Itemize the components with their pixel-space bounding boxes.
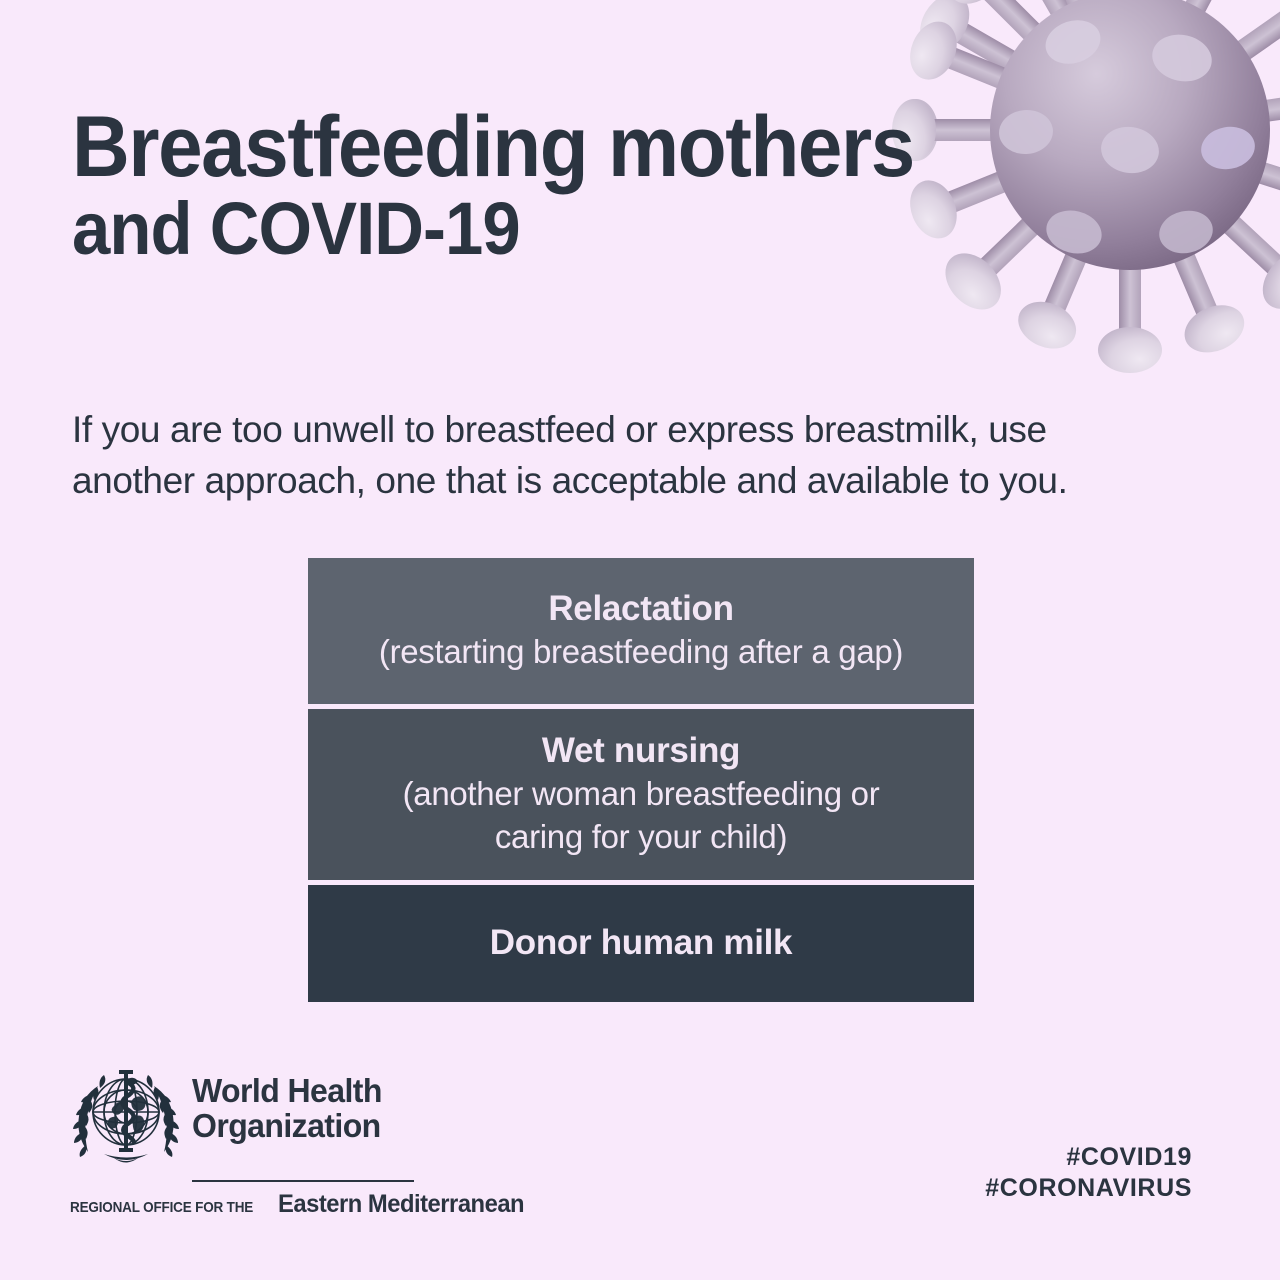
who-logo-divider [192, 1180, 414, 1182]
who-wordmark: World Health Organization [192, 1062, 388, 1143]
who-logo-main: World Health Organization [70, 1062, 430, 1174]
option-title-wet-nursing: Wet nursing [334, 730, 948, 773]
body-line-2: another approach, one that is acceptable… [72, 455, 1242, 506]
option-subtitle-line-1: (restarting breastfeeding after a gap) [334, 631, 948, 674]
option-card-relactation: Relactation (restarting breastfeeding af… [308, 558, 974, 704]
who-word-line-1: World Health [192, 1074, 382, 1109]
option-title-relactation: Relactation [334, 588, 948, 631]
headline-line-1: Breastfeeding mothers [72, 108, 983, 187]
option-subtitle-line-2: caring for your child) [334, 816, 948, 859]
hashtag-coronavirus: #CORONAVIRUS [985, 1173, 1192, 1204]
who-region-name: Eastern Mediterranean [278, 1190, 524, 1219]
who-logo: World Health Organization REGIONAL OFFIC… [70, 1062, 430, 1219]
poster-headline: Breastfeeding mothers and COVID-19 [72, 108, 1052, 267]
option-card-donor-human-milk: Donor human milk [308, 885, 974, 1002]
option-title-donor-human-milk: Donor human milk [334, 922, 948, 965]
hashtag-covid19: #COVID19 [985, 1142, 1192, 1173]
who-region-prefix: REGIONAL OFFICE FOR THE [70, 1199, 253, 1216]
who-region-line: REGIONAL OFFICE FOR THE Eastern Mediterr… [70, 1190, 430, 1219]
hashtag-block: #COVID19 #CORONAVIRUS [985, 1142, 1192, 1203]
headline-line-2: and COVID-19 [72, 191, 983, 266]
alternative-options-list: Relactation (restarting breastfeeding af… [308, 558, 974, 1002]
option-card-wet-nursing: Wet nursing (another woman breastfeeding… [308, 709, 974, 880]
who-emblem-icon [70, 1062, 182, 1174]
poster-canvas: Breastfeeding mothers and COVID-19 If yo… [0, 0, 1280, 1280]
who-word-line-2: Organization [192, 1109, 382, 1144]
body-line-1: If you are too unwell to breastfeed or e… [72, 404, 1242, 455]
poster-body-text: If you are too unwell to breastfeed or e… [72, 404, 1242, 506]
option-subtitle-wet-nursing: (another woman breastfeeding or caring f… [334, 773, 948, 859]
option-subtitle-line-1: (another woman breastfeeding or [334, 773, 948, 816]
option-subtitle-relactation: (restarting breastfeeding after a gap) [334, 631, 948, 674]
